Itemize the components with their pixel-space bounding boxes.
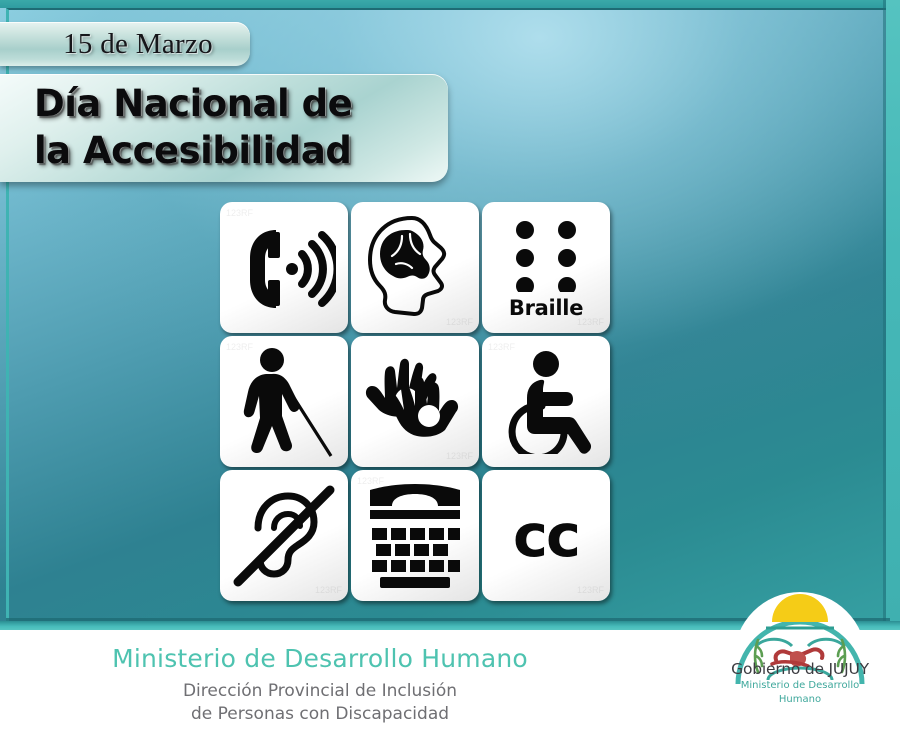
tile-closed-captioning: 123RF cc (482, 470, 610, 601)
braille-label: Braille (482, 296, 610, 320)
cognitive-disability-head-brain-icon (362, 214, 468, 322)
tile-cognitive-head-brain: 123RF (351, 202, 479, 333)
tile-wheelchair: 123RF (482, 336, 610, 467)
title-line-2: la Accesibilidad (34, 127, 448, 174)
watermark: 123RF (226, 208, 253, 218)
tty-teletypewriter-icon (362, 484, 468, 588)
tile-volume-control-telephone: 123RF (220, 202, 348, 333)
title-line-1: Día Nacional de (34, 80, 448, 127)
braille-dots-icon (509, 218, 583, 292)
deaf-hard-of-hearing-icon (230, 482, 338, 590)
tile-deaf-hard-of-hearing: 123RF (220, 470, 348, 601)
footer-ministry: Ministerio de Desarrollo Humano (0, 644, 640, 673)
tile-sign-language: 123RF (351, 336, 479, 467)
date-ribbon-text: 15 de Marzo (27, 28, 223, 61)
footer-direction-line-2: de Personas con Discapacidad (0, 703, 640, 726)
frame-top-border (0, 0, 900, 8)
frame-right-border (886, 0, 900, 630)
blind-person-with-cane-icon (232, 346, 336, 458)
volume-control-telephone-icon (232, 224, 336, 312)
date-ribbon: 15 de Marzo (0, 22, 250, 66)
accessibility-day-poster: 15 de Marzo Día Nacional de la Accesibil… (0, 0, 900, 735)
logo-ministry-line-1: Ministerio de Desarrollo (712, 679, 888, 692)
closed-captioning-label: cc (513, 506, 579, 565)
footer-direction: Dirección Provincial de Inclusión de Per… (0, 680, 640, 726)
title-plate: Día Nacional de la Accesibilidad (0, 74, 448, 182)
watermark: 123RF (446, 451, 473, 461)
tile-blind-person-cane: 123RF (220, 336, 348, 467)
wheelchair-accessibility-icon (496, 350, 596, 454)
tile-braille: 123RF Braille (482, 202, 610, 333)
watermark: 123RF (577, 585, 604, 595)
sign-language-interpretation-icon (360, 354, 470, 450)
accessibility-icon-grid: 123RF 123RF (220, 202, 610, 601)
logo-ministry-line-2: Humano (712, 693, 888, 706)
logo-text-block: Gobierno de JUJUY Ministerio de Desarrol… (712, 660, 888, 706)
logo-government-text: Gobierno de JUJUY (712, 660, 888, 678)
tile-tty-teletypewriter: 123RF (351, 470, 479, 601)
jujuy-government-logo: Gobierno de JUJUY Ministerio de Desarrol… (712, 592, 888, 735)
footer-direction-line-1: Dirección Provincial de Inclusión (0, 680, 640, 703)
